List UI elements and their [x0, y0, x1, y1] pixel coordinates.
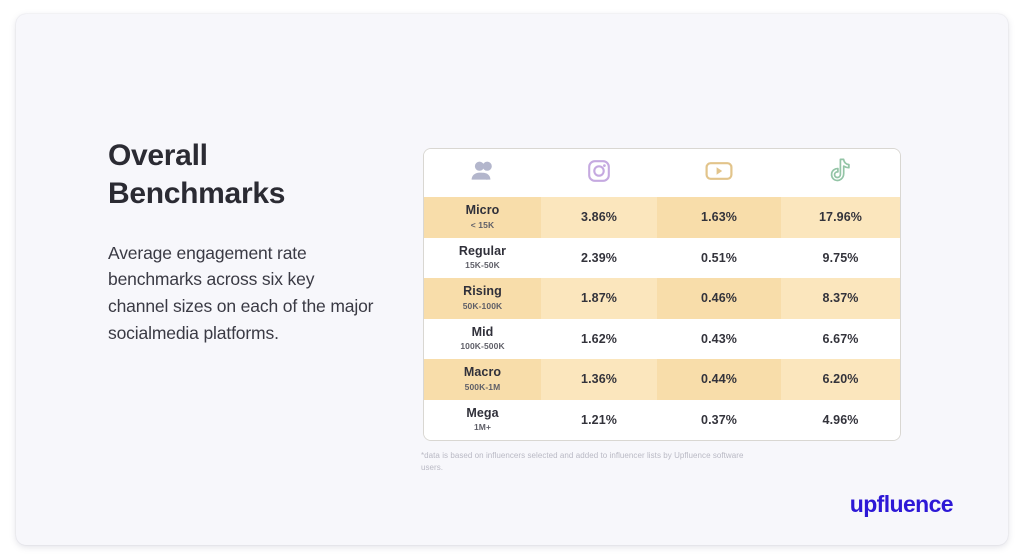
cell-youtube-rising: 0.46% [657, 278, 781, 319]
row-label-mid: Mid 100K-500K [424, 319, 541, 360]
table-row: Micro < 15K 3.86% 1.63% 17.96% [424, 197, 900, 238]
tier-range: < 15K [424, 221, 541, 230]
tier-name: Mega [424, 407, 541, 421]
tier-name: Macro [424, 366, 541, 380]
page-title: Overall Benchmarks [108, 137, 378, 214]
cell-youtube-macro: 0.44% [657, 359, 781, 400]
row-label-mega: Mega 1M+ [424, 400, 541, 441]
tier-name: Mid [424, 326, 541, 340]
cell-tiktok-mid: 6.67% [781, 319, 900, 360]
footnote: *data is based on influencers selected a… [421, 450, 751, 475]
table-row: Mega 1M+ 1.21% 0.37% 4.96% [424, 400, 900, 441]
tier-range: 1M+ [424, 423, 541, 432]
table-header [424, 149, 900, 197]
row-label-macro: Macro 500K-1M [424, 359, 541, 400]
tier-range: 500K-1M [424, 383, 541, 392]
tier-name: Micro [424, 204, 541, 218]
page-title-line-1: Overall [108, 137, 378, 175]
cell-instagram-macro: 1.36% [541, 359, 657, 400]
audience-icon [470, 160, 496, 187]
table-header-row [424, 149, 900, 197]
cell-tiktok-regular: 9.75% [781, 238, 900, 279]
instagram-icon [587, 159, 611, 188]
page-title-line-2: Benchmarks [108, 175, 378, 213]
row-label-micro: Micro < 15K [424, 197, 541, 238]
left-text-block: Overall Benchmarks Average engagement ra… [108, 137, 378, 346]
cell-instagram-micro: 3.86% [541, 197, 657, 238]
cell-tiktok-mega: 4.96% [781, 400, 900, 441]
benchmarks-table: Micro < 15K 3.86% 1.63% 17.96% Regular 1… [423, 148, 901, 441]
youtube-icon [705, 160, 733, 187]
tier-name: Regular [424, 245, 541, 259]
column-header-audience [424, 149, 541, 197]
cell-youtube-regular: 0.51% [657, 238, 781, 279]
cell-tiktok-macro: 6.20% [781, 359, 900, 400]
column-header-tiktok [781, 149, 900, 197]
table-row: Mid 100K-500K 1.62% 0.43% 6.67% [424, 319, 900, 360]
cell-youtube-mega: 0.37% [657, 400, 781, 441]
cell-instagram-rising: 1.87% [541, 278, 657, 319]
cell-instagram-mega: 1.21% [541, 400, 657, 441]
cell-instagram-regular: 2.39% [541, 238, 657, 279]
row-label-rising: Rising 50K-100K [424, 278, 541, 319]
column-header-youtube [657, 149, 781, 197]
cell-tiktok-rising: 8.37% [781, 278, 900, 319]
cell-youtube-micro: 1.63% [657, 197, 781, 238]
cell-instagram-mid: 1.62% [541, 319, 657, 360]
row-label-regular: Regular 15K-50K [424, 238, 541, 279]
table-row: Macro 500K-1M 1.36% 0.44% 6.20% [424, 359, 900, 400]
tier-range: 100K-500K [424, 342, 541, 351]
tier-name: Rising [424, 285, 541, 299]
table-row: Regular 15K-50K 2.39% 0.51% 9.75% [424, 238, 900, 279]
cell-tiktok-micro: 17.96% [781, 197, 900, 238]
tier-range: 15K-50K [424, 261, 541, 270]
benchmarks-table-wrapper: Micro < 15K 3.86% 1.63% 17.96% Regular 1… [423, 148, 901, 441]
tiktok-icon [830, 158, 852, 188]
cell-youtube-mid: 0.43% [657, 319, 781, 360]
table-body: Micro < 15K 3.86% 1.63% 17.96% Regular 1… [424, 197, 900, 440]
upfluence-logo: upfluence [850, 491, 953, 518]
tier-range: 50K-100K [424, 302, 541, 311]
table-row: Rising 50K-100K 1.87% 0.46% 8.37% [424, 278, 900, 319]
column-header-instagram [541, 149, 657, 197]
slide-card: Overall Benchmarks Average engagement ra… [16, 14, 1008, 545]
page-subcopy: Average engagement rate benchmarks acros… [108, 240, 378, 346]
